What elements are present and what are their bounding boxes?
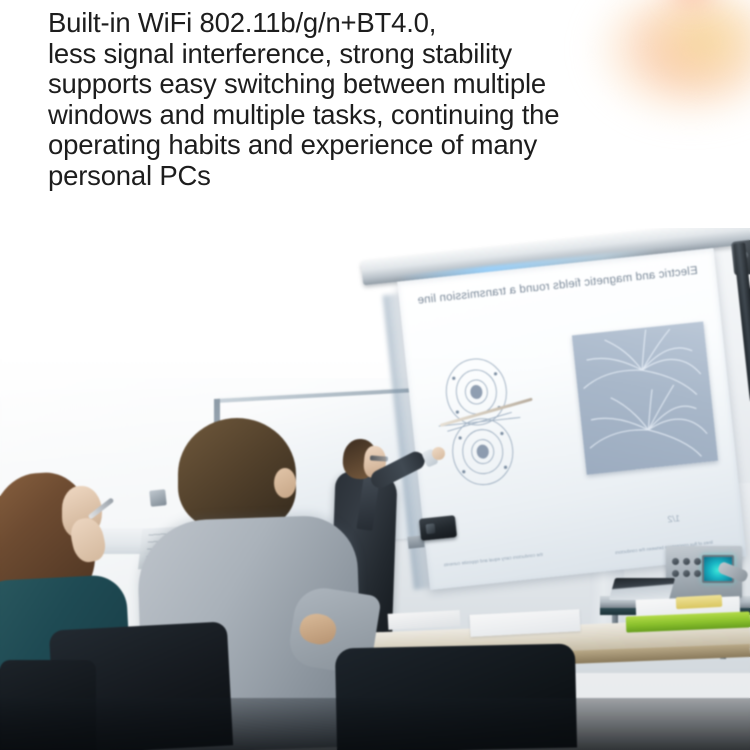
product-feature-page: Built-in WiFi 802.11b/g/n+BT4.0, less si… [0,0,750,750]
product-feature-caption: Built-in WiFi 802.11b/g/n+BT4.0, less si… [48,8,720,191]
slide-page-mark: 1/2 [667,513,681,524]
audience-man-ear [274,468,296,498]
slide-caption-left: the conductors carry equal and opposite … [441,552,545,569]
laptop [609,578,675,600]
field-lines-svg [572,321,718,474]
magnetic-field-lines-diagram [572,321,718,474]
yellow-item [676,595,723,609]
ceiling-projector [419,515,457,541]
classroom-presentation-photo: Electric and magnetic fields round a tra… [0,228,750,750]
floor-shadow [0,698,750,750]
oscilloscope-knobs [672,558,702,580]
projector-lens-icon [426,523,436,534]
projection-surface: Electric and magnetic fields round a tra… [397,248,746,590]
presenter-hand [432,447,445,460]
projected-slide: Electric and magnetic fields round a tra… [397,248,746,590]
desk-device [149,489,167,507]
